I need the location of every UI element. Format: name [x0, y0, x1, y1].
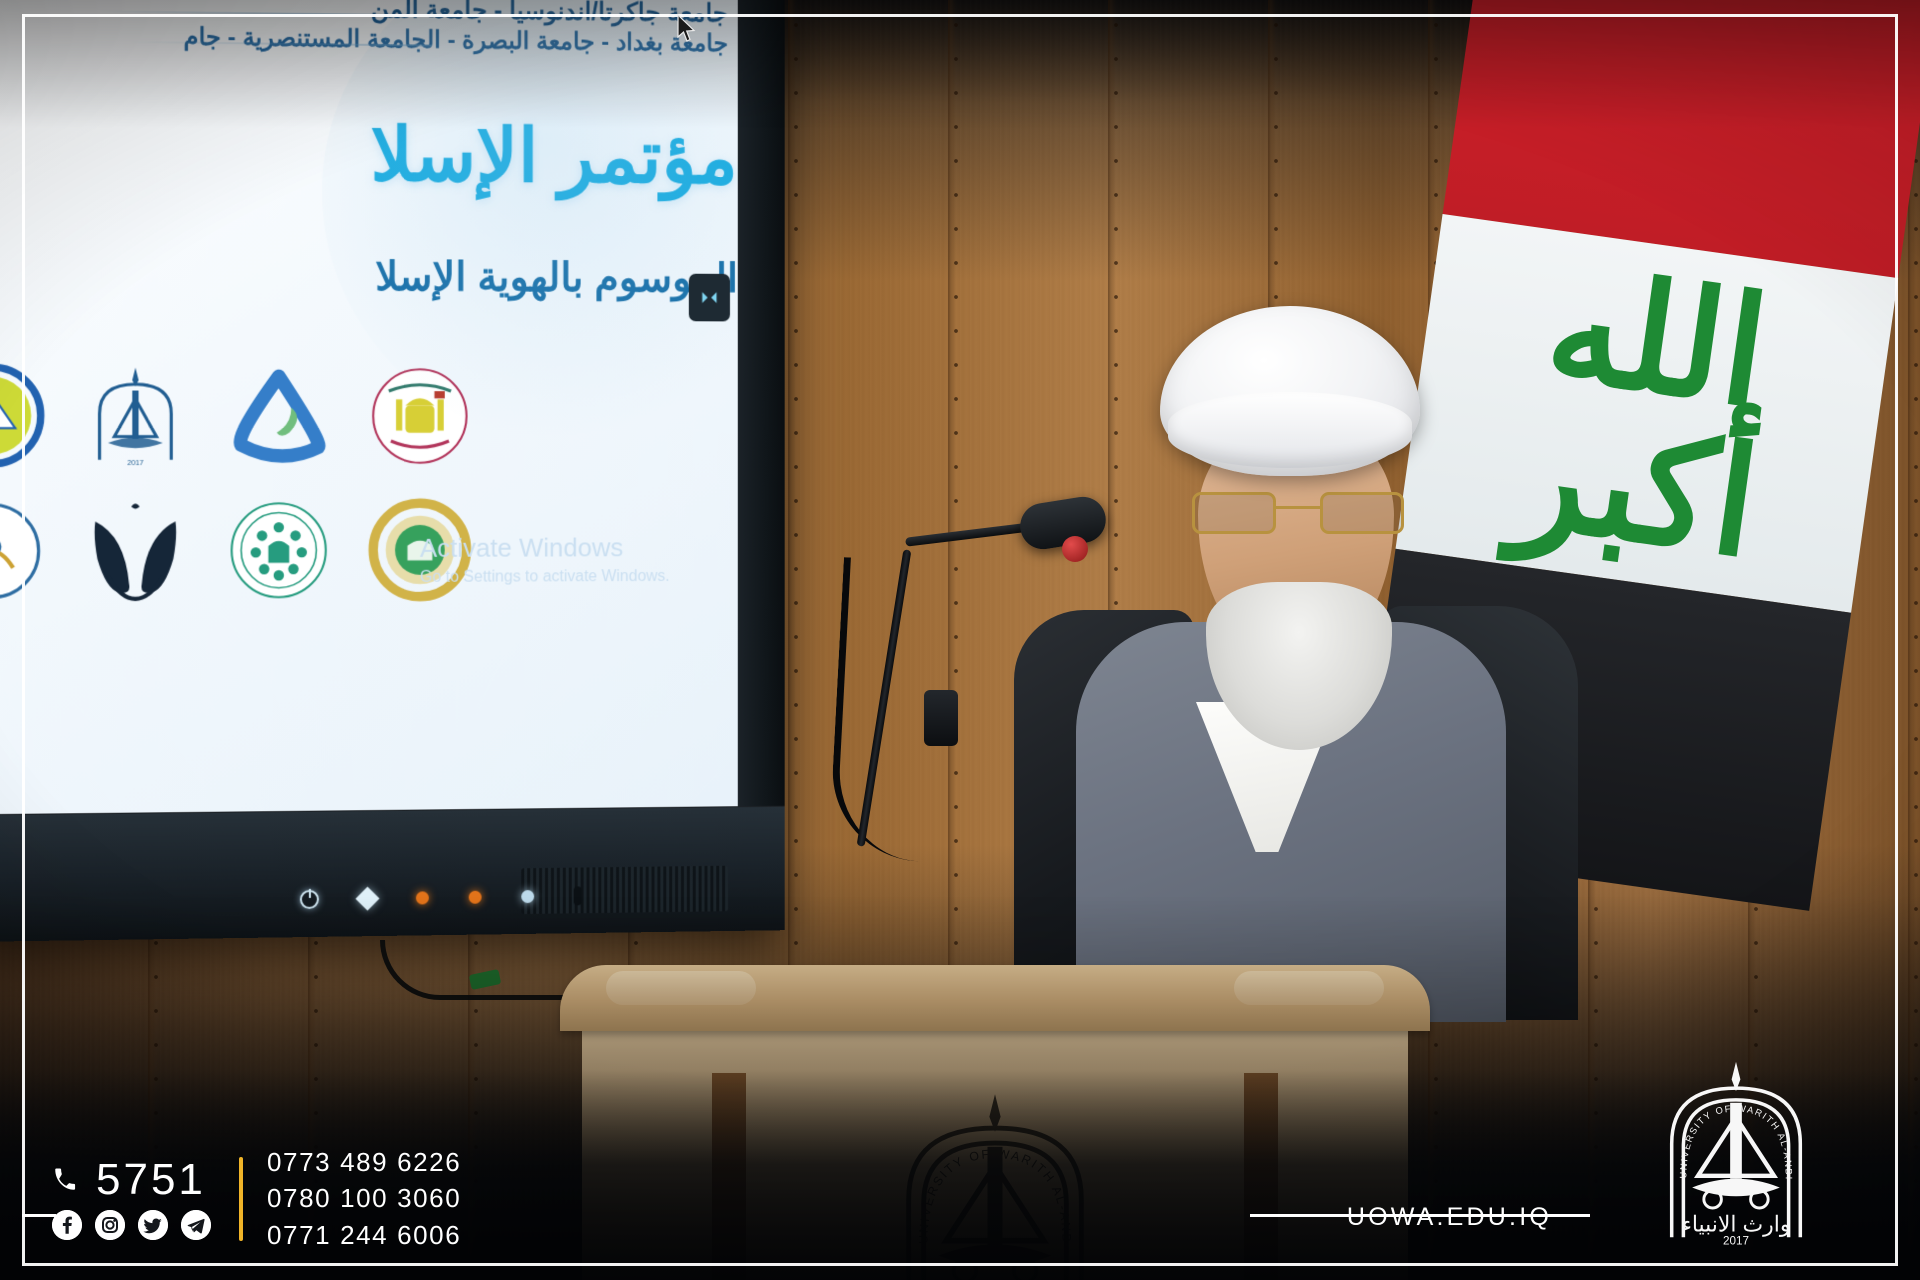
podium-university-emblem: UNIVERSITY OF WARITH AL-ANBIYA وارث الان… [879, 1083, 1111, 1280]
display-control-row[interactable] [300, 886, 582, 909]
slide-subtitle: الموسوم بالهوية الإسلا [0, 251, 738, 302]
slide-header: جامعة جاكرتا/اندنوسيا - جامعة المن جامعة… [0, 0, 728, 58]
footer-rule-left [22, 1214, 56, 1217]
speaker-person [1020, 300, 1560, 1020]
led-orange-2-icon [469, 891, 482, 904]
speaker-glasses [1192, 492, 1404, 534]
svg-text:2017: 2017 [127, 458, 143, 467]
diamond-indicator-icon [355, 887, 379, 911]
phone-number-2: 0780 100 3060 [267, 1182, 461, 1215]
microphone-clamp [924, 690, 958, 746]
footer-accent-divider [239, 1157, 243, 1241]
svg-text:UNIVERSITY OF WARITH AL-ANBIYA: UNIVERSITY OF WARITH AL-ANBIYA [1648, 1056, 1794, 1181]
microphone-windscreen-red [1062, 536, 1088, 562]
glasses-lens-right [1320, 492, 1404, 534]
display-bottom-bezel [0, 806, 785, 942]
glasses-bridge [1276, 506, 1320, 509]
mouse-cursor [676, 14, 696, 44]
slide-header-line-2: جامعة بغداد - جامعة البصرة - الجامعة الم… [0, 20, 728, 58]
led-orange-1-icon [416, 891, 429, 904]
presentation-slide: جامعة جاكرتا/اندنوسيا - جامعة المن جامعة… [0, 0, 738, 814]
social-icons-row[interactable] [52, 1210, 211, 1240]
ir-receiver-slot-icon [574, 886, 582, 905]
twitter-icon[interactable] [138, 1210, 168, 1240]
instagram-icon[interactable] [95, 1210, 125, 1240]
crest-arc-text: UNIVERSITY OF WARITH AL-ANBIYA [1648, 1056, 1794, 1181]
logo-iran-university [83, 498, 188, 603]
podium-stripe-left [712, 1073, 746, 1280]
speaker-turban [1160, 306, 1420, 476]
footer-phone-list: 0773 489 6226 0780 100 3060 0771 244 600… [267, 1146, 461, 1252]
phone-number-1: 0773 489 6226 [267, 1146, 461, 1179]
glasses-lens-left [1192, 492, 1276, 534]
university-crest-logo: UNIVERSITY OF WARITH AL-ANBIYA وارث الان… [1648, 1056, 1824, 1246]
podium-body: UNIVERSITY OF WARITH AL-ANBIYA وارث الان… [582, 1017, 1408, 1280]
hotline-number: 5751 [96, 1158, 206, 1202]
logo-al-amana-al-amma [368, 364, 472, 468]
podium-stripe-right [1244, 1073, 1278, 1280]
interactive-display[interactable]: جامعة جاكرتا/اندنوسيا - جامعة المن جامعة… [0, 0, 785, 942]
power-button-icon[interactable] [300, 890, 319, 909]
logo-circle-green-yellow [0, 363, 45, 468]
website-url[interactable]: UOWA.EDU.IQ [1347, 1203, 1552, 1232]
crest-year-text: 2017 [1723, 1235, 1749, 1246]
screenshot-root: الله أكبر جامعة جاكرتا/اندنوسيا - جامعة … [0, 0, 1920, 1280]
display-pen-icon[interactable] [689, 274, 730, 322]
phone-number-3: 0771 244 6006 [267, 1219, 461, 1252]
podium: UNIVERSITY OF WARITH AL-ANBIYA وارث الان… [560, 965, 1430, 1280]
phone-icon [52, 1167, 78, 1193]
logo-blue-triangle-swoosh [226, 364, 331, 468]
logo-university-of-kufa [226, 498, 331, 603]
footer-contact-block: 5751 0773 489 6226 0780 100 3060 [52, 1146, 461, 1252]
led-blue-icon [521, 890, 534, 903]
slide-title: مؤتمر الإسلا [0, 107, 738, 201]
podium-top-ledge [560, 965, 1430, 1031]
slide-sponsor-logos: 2017 [0, 351, 488, 617]
logo-circle-blue-left [0, 498, 45, 604]
display-right-bezel [738, 0, 785, 931]
footer-hotline-row: 5751 [52, 1158, 211, 1202]
logo-gold-green-seal [368, 498, 472, 602]
display-screen[interactable]: جامعة جاكرتا/اندنوسيا - جامعة المن جامعة… [0, 0, 738, 814]
footer-contact-left: 5751 [52, 1158, 211, 1240]
crest-arabic-text: وارث الانبياء [1682, 1211, 1791, 1237]
telegram-icon[interactable] [181, 1210, 211, 1240]
facebook-icon[interactable] [52, 1210, 82, 1240]
logo-warith-al-anbiya: 2017 [83, 363, 188, 468]
